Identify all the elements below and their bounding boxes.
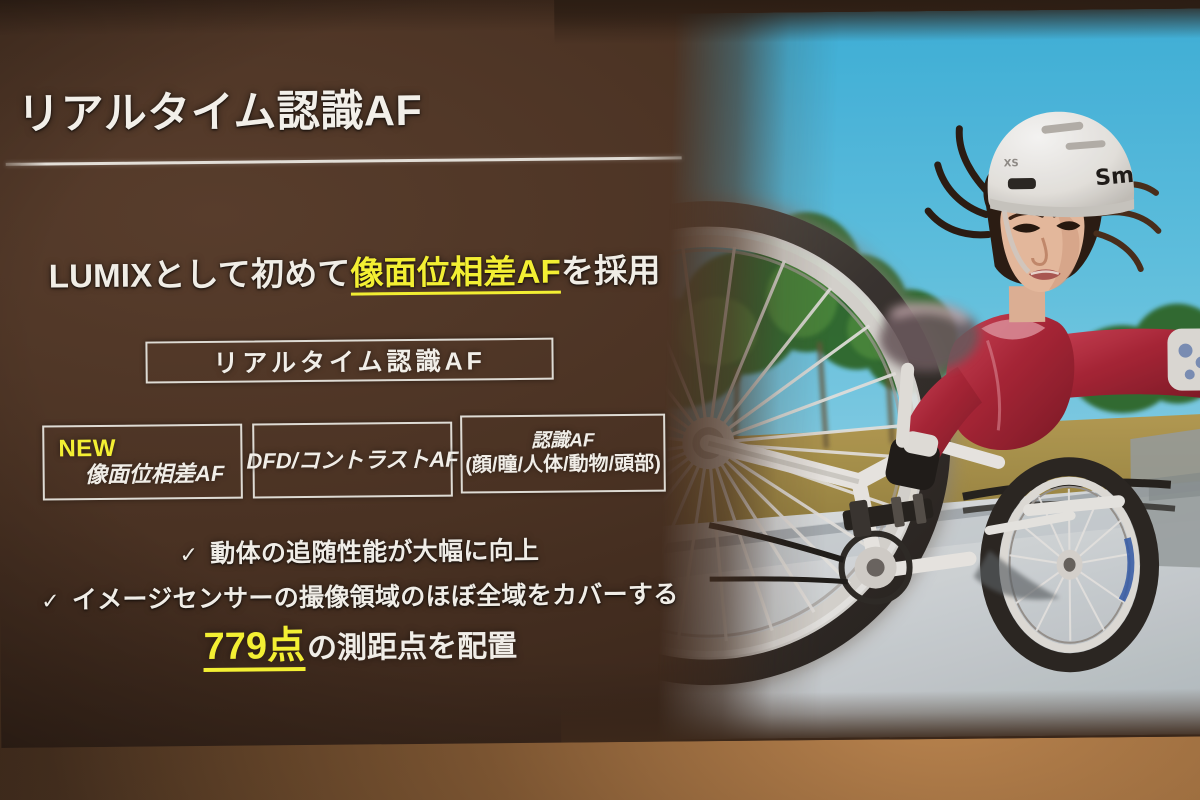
subheadline-highlight: 像面位相差AF	[350, 253, 561, 296]
af-point-count-line: 779点の測距点を配置	[0, 610, 720, 672]
feature-box-dfd-contrast-af: DFD/コントラストAF	[252, 422, 453, 499]
section-heading-label: リアルタイム認識AF	[213, 341, 486, 380]
subheadline: LUMIXとして初めて像面位相差AFを採用	[48, 244, 660, 298]
feature-sublabel-3: (顔/瞳/人体/動物/頭部)	[465, 453, 661, 478]
feature-box-recognition-af: 認識AF (顔/瞳/人体/動物/頭部)	[460, 414, 666, 494]
check-icon: ✓	[179, 542, 198, 568]
title-divider	[6, 156, 682, 165]
section-heading-box: リアルタイム認識AF	[145, 338, 553, 384]
projected-slide: Sm XS リアルタイム認識	[0, 0, 1200, 748]
presentation-photo: Sm XS リアルタイム認識	[0, 0, 1200, 800]
slide-content: リアルタイム認識AF LUMIXとして初めて像面位相差AFを採用 リアルタイム認…	[0, 0, 721, 748]
feature-label-3: 認識AF	[531, 430, 595, 453]
subheadline-prefix: LUMIXとして初めて	[49, 255, 351, 295]
feature-label-1: 像面位相差AF	[85, 461, 225, 488]
list-item-label: イメージセンサーの撮像領域のほぼ全域をカバーする	[72, 574, 679, 616]
feature-label-2: DFD/コントラストAF	[246, 446, 458, 474]
af-point-count-suffix: の測距点を配置	[307, 630, 517, 665]
new-badge: NEW	[58, 437, 116, 462]
page-title: リアルタイム認識AF	[17, 76, 423, 142]
check-icon: ✓	[41, 588, 60, 614]
feature-box-phase-detect-af: NEW 像面位相差AF	[42, 424, 243, 501]
subheadline-suffix: を採用	[561, 252, 661, 290]
af-point-count-value: 779点	[203, 625, 305, 672]
list-item: ✓ 動体の追随性能が大幅に向上	[0, 529, 720, 572]
list-item-label: 動体の追随性能が大幅に向上	[210, 531, 539, 570]
benefit-list: ✓ 動体の追随性能が大幅に向上 ✓ イメージセンサーの撮像領域のほぼ全域をカバー…	[0, 529, 720, 617]
